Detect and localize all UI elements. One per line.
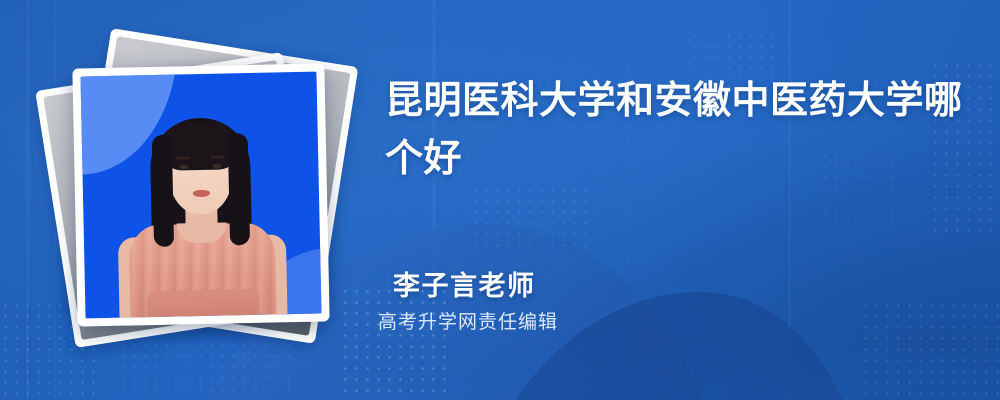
portrait-hair-side-left xyxy=(152,135,174,247)
portrait-hair-side-right xyxy=(228,133,250,245)
byline: 李子言老师 高考升学网责任编辑 xyxy=(378,270,778,336)
portrait-eyebrow-left xyxy=(176,156,190,159)
photo-card-stack xyxy=(40,28,340,358)
page-title: 昆明医科大学和安徽中医药大学哪个好 xyxy=(385,72,965,188)
portrait-eyebrow-right xyxy=(210,156,224,159)
photo-card-front xyxy=(72,63,329,326)
banner-content: 昆明医科大学和安徽中医药大学哪个好 李子言老师 高考升学网责任编辑 xyxy=(378,0,978,400)
portrait-dress-waist xyxy=(147,289,260,317)
author-role: 高考升学网责任编辑 xyxy=(378,310,778,336)
article-cover-banner: 昆明医科大学和安徽中医药大学哪个好 李子言老师 高考升学网责任编辑 xyxy=(0,0,1000,400)
editor-portrait-photo xyxy=(80,72,321,319)
portrait-figure xyxy=(119,106,283,317)
portrait-mouth xyxy=(192,190,209,197)
portrait-dress xyxy=(129,222,277,317)
author-name: 李子言老师 xyxy=(393,270,778,302)
